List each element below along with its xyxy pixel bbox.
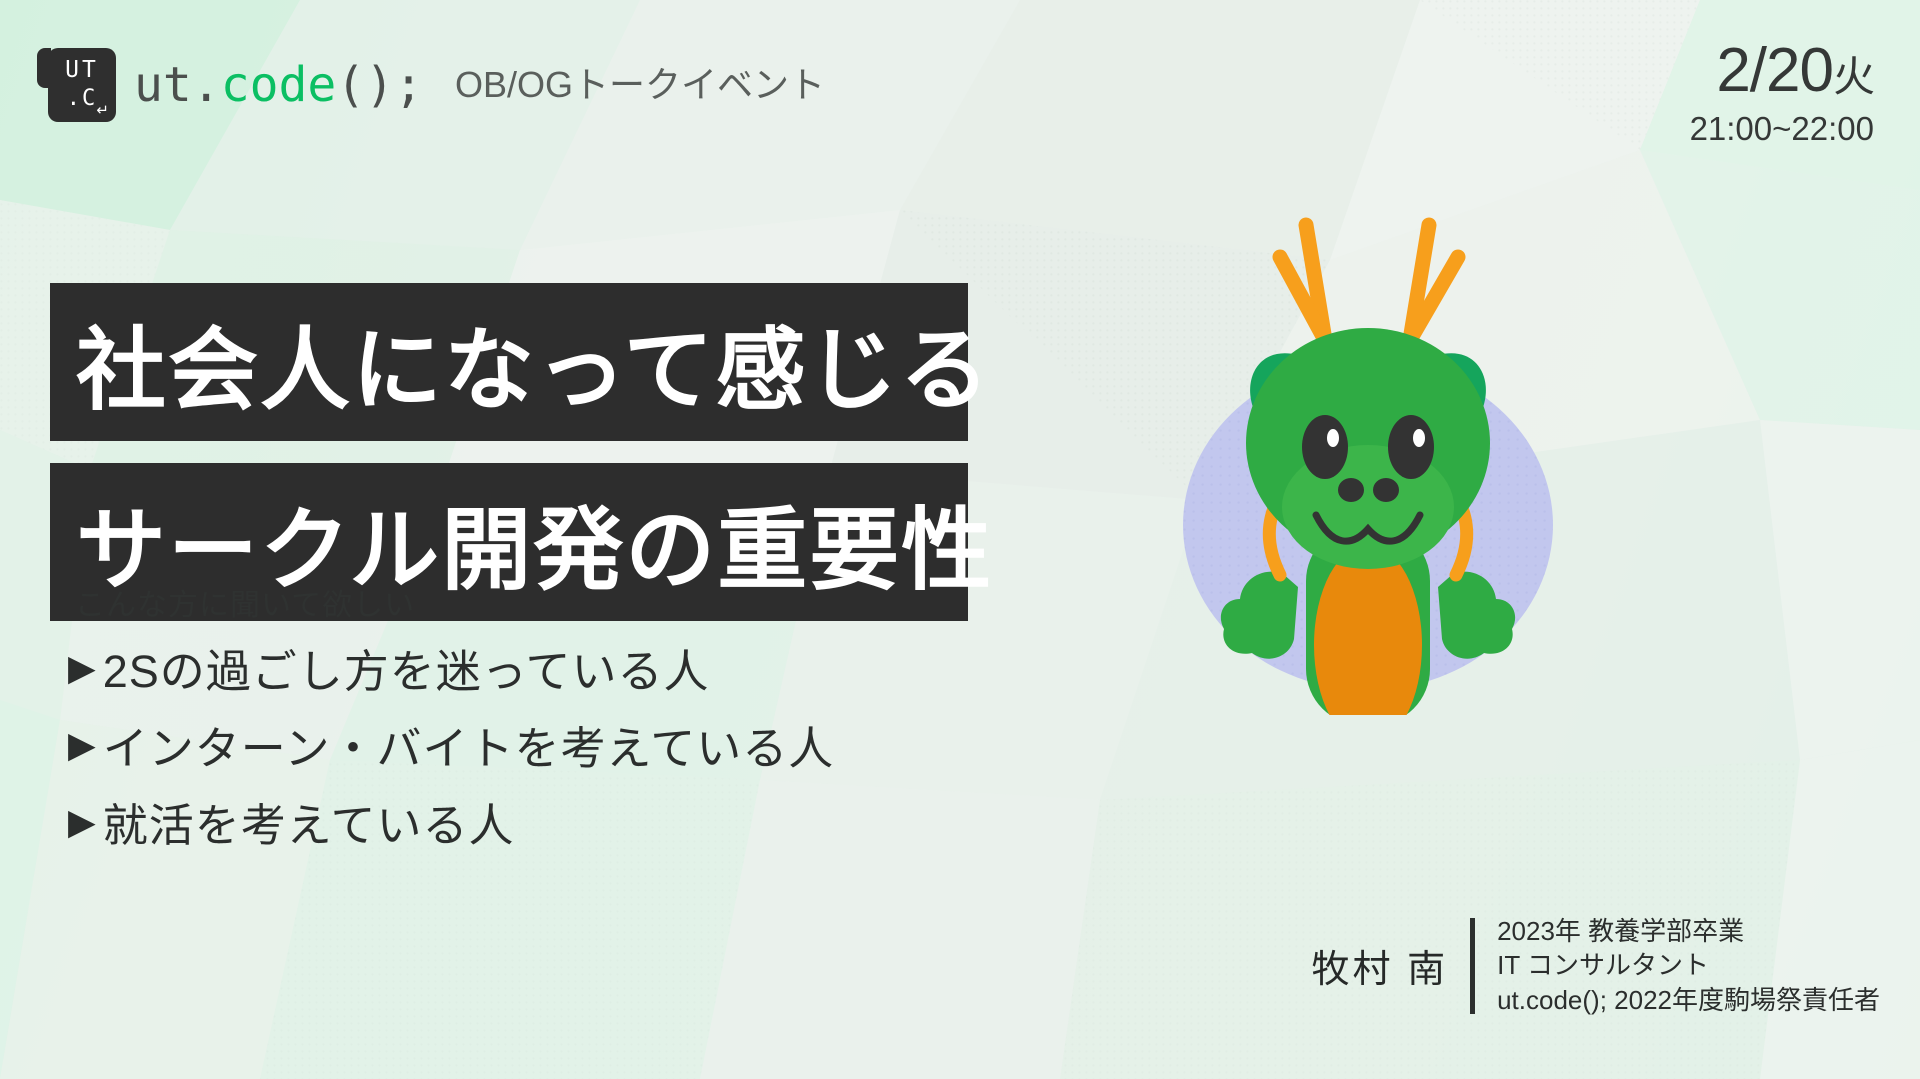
logo-top-text: UT [48, 59, 116, 82]
triangle-bullet-icon: ▶ [68, 727, 97, 763]
audience-list: ▶ 2Sの過ごし方を迷っている人 ▶ インターン・バイトを考えている人 ▶ 就活… [68, 635, 834, 866]
speaker-block: 牧村 南 2023年 教養学部卒業 IT コンサルタント ut.code(); … [1312, 914, 1880, 1017]
event-date-block: 2/20火 21:00~22:00 [1690, 40, 1874, 149]
poster-header: UT .C ↵ ut.code(); OB/OGトークイベント [48, 48, 825, 122]
event-time: 21:00~22:00 [1690, 108, 1874, 149]
wordmark-accent: code [221, 57, 337, 113]
speaker-detail-line-1: 2023年 教養学部卒業 [1497, 914, 1880, 948]
brand-wordmark: ut.code(); [134, 61, 423, 109]
speaker-details: 2023年 教養学部卒業 IT コンサルタント ut.code(); 2022年… [1497, 914, 1880, 1017]
return-arrow-icon: ↵ [96, 103, 109, 118]
dragon-mascot-icon [1120, 195, 1600, 715]
audience-caption: こんな方に聞いて欲しい [75, 580, 415, 624]
event-date-day: 2/20 [1716, 36, 1833, 105]
event-kind-label: OB/OGトークイベント [455, 67, 825, 103]
utcode-logo-icon: UT .C ↵ [48, 48, 116, 122]
speaker-name: 牧村 南 [1312, 938, 1449, 993]
event-date: 2/20火 [1690, 40, 1874, 102]
wordmark-prefix: ut. [134, 57, 221, 113]
speaker-divider [1470, 918, 1475, 1014]
list-item-label: インターン・バイトを考えている人 [103, 712, 835, 777]
speaker-detail-line-2: IT コンサルタント [1497, 948, 1880, 982]
list-item-label: 就活を考えている人 [103, 789, 515, 854]
list-item: ▶ インターン・バイトを考えている人 [68, 712, 834, 777]
event-poster: UT .C ↵ ut.code(); OB/OGトークイベント 2/20火 21… [0, 0, 1920, 1079]
triangle-bullet-icon: ▶ [68, 650, 97, 686]
list-item-label: 2Sの過ごし方を迷っている人 [103, 635, 710, 700]
triangle-bullet-icon: ▶ [68, 804, 97, 840]
speaker-detail-line-3: ut.code(); 2022年度駒場祭責任者 [1497, 983, 1880, 1017]
wordmark-suffix: (); [336, 57, 423, 113]
event-date-weekday: 火 [1833, 53, 1874, 100]
list-item: ▶ 就活を考えている人 [68, 789, 834, 854]
headline-line-1: 社会人になって感じる [50, 283, 968, 441]
list-item: ▶ 2Sの過ごし方を迷っている人 [68, 635, 834, 700]
